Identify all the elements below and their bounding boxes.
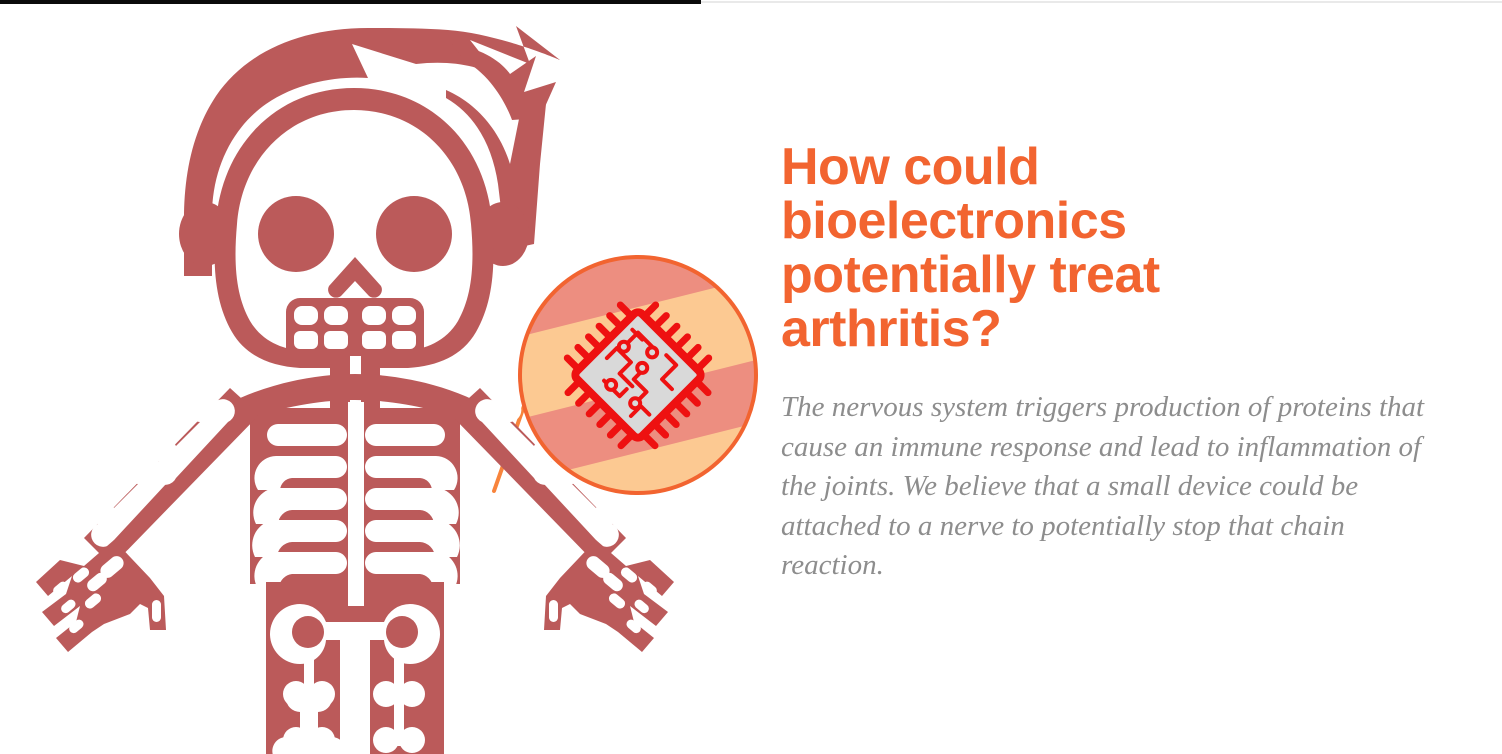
slide-canvas: How could bioelectronics potentially tre… — [0, 0, 1502, 754]
arm-left — [84, 388, 258, 566]
page-title: How could bioelectronics potentially tre… — [781, 140, 1211, 356]
hand-left — [36, 540, 166, 652]
hand-right — [544, 540, 674, 652]
ribcage — [252, 402, 460, 587]
teeth-grid — [286, 298, 424, 356]
body-paragraph: The nervous system triggers production o… — [781, 356, 1451, 585]
text-panel: How could bioelectronics potentially tre… — [781, 140, 1471, 586]
leg-gap — [340, 640, 370, 754]
eye-socket-left — [258, 196, 334, 272]
eye-socket-right — [376, 196, 452, 272]
skeleton-illustration — [0, 4, 760, 754]
lumbar-gap — [348, 582, 364, 606]
top-grey-rule — [701, 1, 1502, 3]
